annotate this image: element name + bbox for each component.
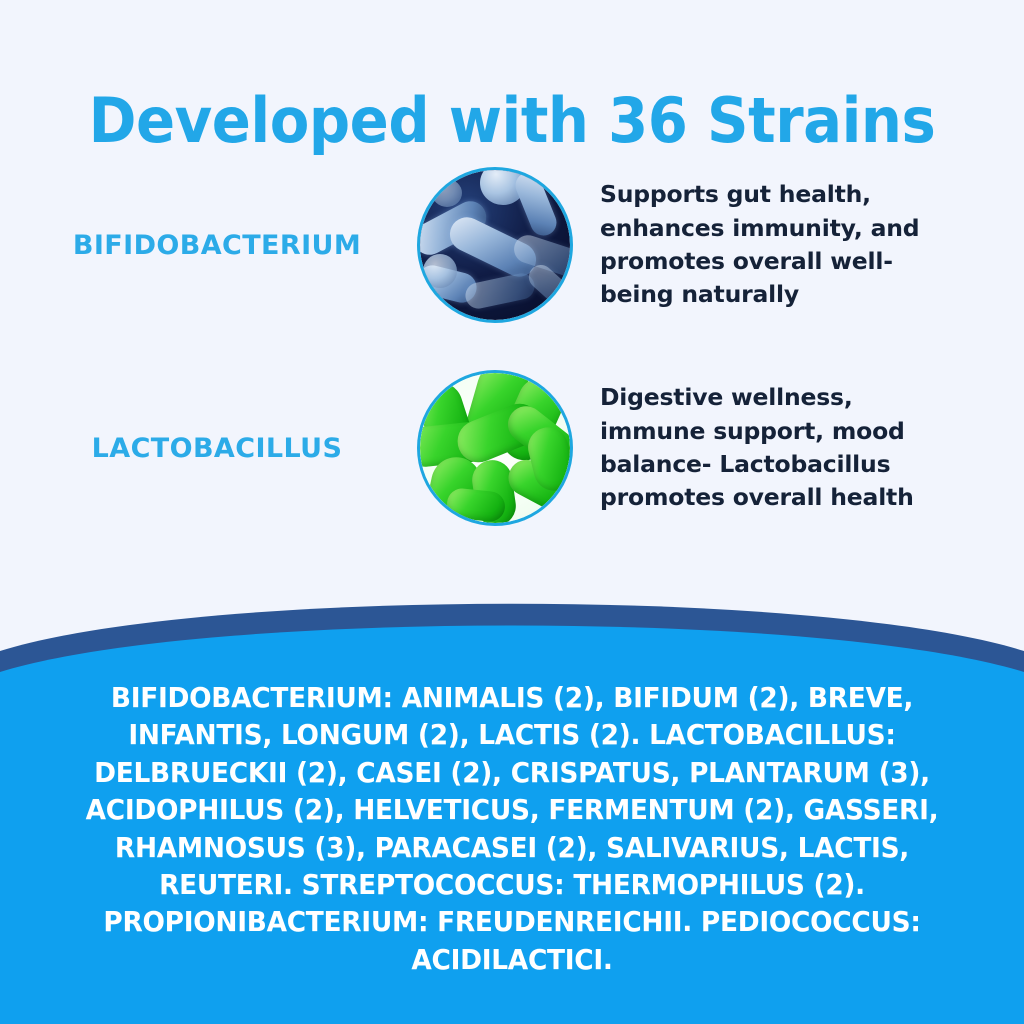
strain-description-lactobacillus: Digestive wellness, immune support, mood… <box>570 381 1024 514</box>
strain-description-bifidobacterium: Supports gut health, enhances immunity, … <box>570 178 1024 311</box>
infographic-canvas: Developed with 36 Strains BIFIDOBACTERIU… <box>0 0 1024 1024</box>
strain-name-bifidobacterium: BIFIDOBACTERIUM <box>0 230 420 261</box>
lactobacillus-image <box>420 373 570 523</box>
strain-list-text: BIFIDOBACTERIUM: ANIMALIS (2), BIFIDUM (… <box>20 680 1003 979</box>
strain-list-panel: BIFIDOBACTERIUM: ANIMALIS (2), BIFIDUM (… <box>0 594 1024 1024</box>
strain-row-lactobacillus: LACTOBACILLUS Digestive wellness, immune… <box>0 373 1024 523</box>
lactobacillus-micrograph-art <box>420 373 570 523</box>
bifidobacterium-micrograph-art <box>420 170 570 320</box>
bifidobacterium-image <box>420 170 570 320</box>
strain-name-lactobacillus: LACTOBACILLUS <box>0 433 420 464</box>
strain-row-bifidobacterium: BIFIDOBACTERIUM Supports gut health, enh… <box>0 170 1024 320</box>
page-title: Developed with 36 Strains <box>36 88 988 153</box>
